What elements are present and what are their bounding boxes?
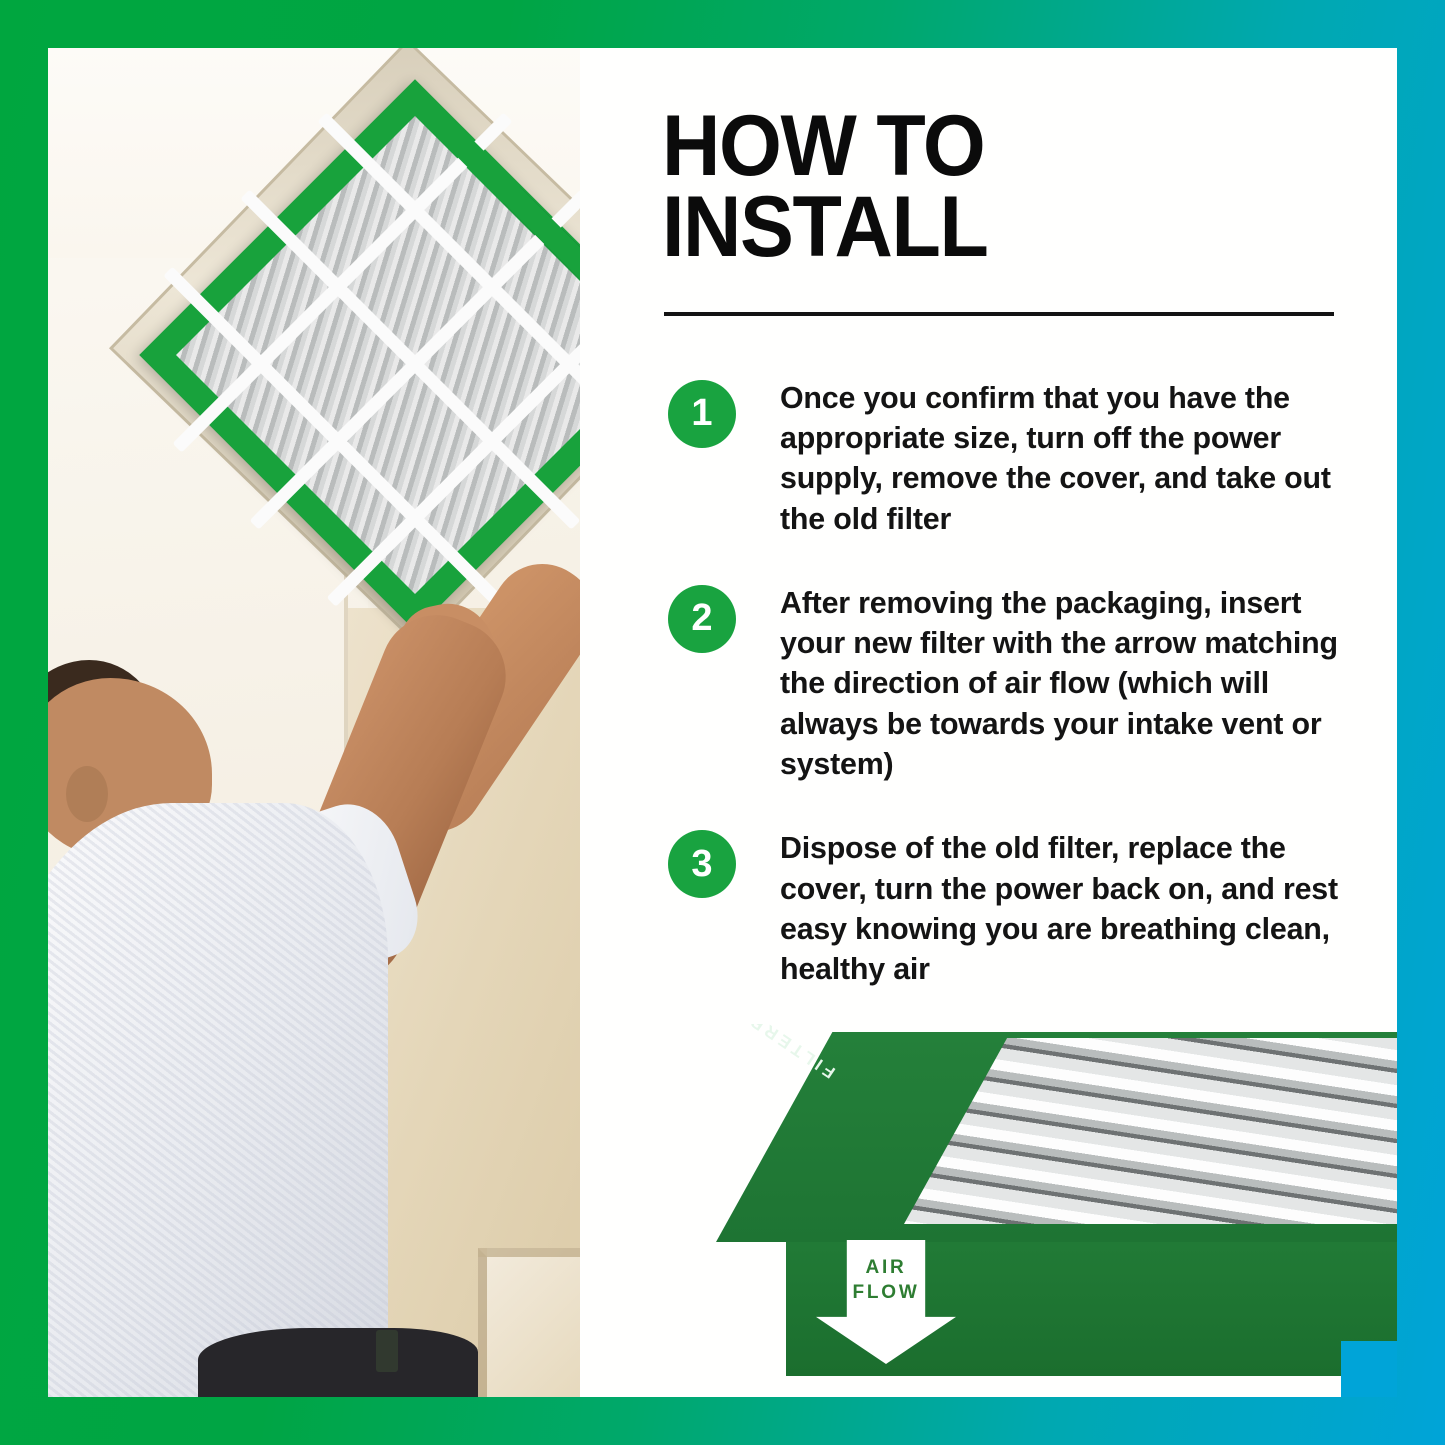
- step-item: 2 After removing the packaging, insert y…: [662, 583, 1377, 784]
- infographic-poster: FILTERBUY HOW TO INSTALL 1 Once you conf…: [0, 0, 1445, 1445]
- page-title: HOW TO INSTALL: [662, 106, 1334, 268]
- person-shirt: [48, 803, 388, 1397]
- step-description: Once you confirm that you have the appro…: [780, 378, 1348, 539]
- title-divider: [664, 312, 1334, 316]
- doorway-frame: [478, 1248, 580, 1397]
- poster-canvas: FILTERBUY HOW TO INSTALL 1 Once you conf…: [48, 48, 1397, 1397]
- person-pants: [198, 1328, 478, 1397]
- step-number-badge: 3: [668, 830, 736, 898]
- step-description: Dispose of the old filter, replace the c…: [780, 828, 1348, 989]
- installation-photo: FILTERBUY: [48, 48, 580, 1397]
- corner-accent-notch: [1341, 1341, 1397, 1397]
- step-item: 3 Dispose of the old filter, replace the…: [662, 828, 1377, 989]
- step-number-badge: 1: [668, 380, 736, 448]
- step-description: After removing the packaging, insert you…: [780, 583, 1348, 784]
- wall-switch-plate: [376, 1330, 398, 1372]
- step-item: 1 Once you confirm that you have the app…: [662, 378, 1377, 539]
- person-ear: [66, 766, 108, 822]
- step-number-badge: 2: [668, 585, 736, 653]
- steps-list: 1 Once you confirm that you have the app…: [662, 378, 1377, 990]
- instructions-panel: HOW TO INSTALL 1 Once you confirm that y…: [656, 48, 1397, 1397]
